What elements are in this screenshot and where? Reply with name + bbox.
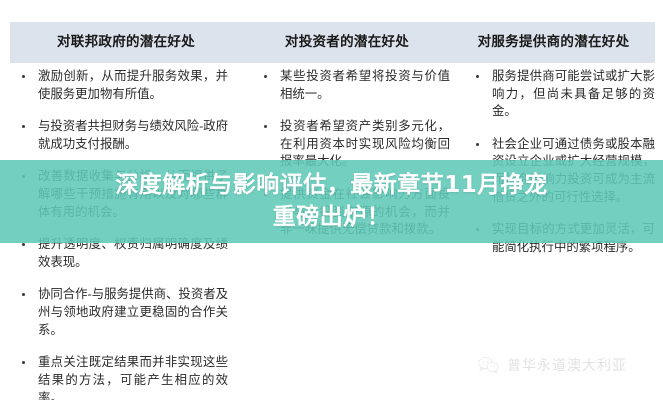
watermark-label: 普华永道澳大利亚 — [507, 355, 627, 375]
column-header-investors: 对投资者的潜在好处 — [242, 34, 452, 50]
slide-canvas: 对联邦政府的潜在好处 对投资者的潜在好处 对服务提供商的潜在好处 激励创新，从而… — [0, 0, 663, 400]
list-item: 协同合作-与服务提供商、投资者及州与领地政府建立更稳固的合作关系。 — [16, 286, 228, 339]
column-header-service-providers: 对服务提供商的潜在好处 — [452, 34, 655, 50]
list-item: 重点关注既定结果而并非实现这些结果的方法，可能产生相应的效率。 — [16, 354, 228, 400]
column-header-federal-government: 对联邦政府的潜在好处 — [10, 34, 242, 50]
table-header-row: 对联邦政府的潜在好处 对投资者的潜在好处 对服务提供商的潜在好处 — [10, 22, 655, 63]
watermark: 普华永道澳大利亚 — [478, 355, 627, 375]
list-item: 与投资者共担财务与绩效风险-政府就成功支付报酬。 — [16, 118, 228, 153]
overlay-headline-line-2: 重磅出炉！ — [273, 202, 391, 234]
list-item: 服务提供商可能尝试或扩大影响力，但尚未具备足够的资金。 — [470, 68, 655, 121]
list-item: 激励创新，从而提升服务效果，并使服务更加物有所值。 — [16, 68, 228, 103]
wechat-icon — [478, 356, 499, 374]
overlay-banner: 深度解析与影响评估，最新章节11月挣宠 重磅出炉！ — [0, 160, 663, 243]
overlay-headline-line-1: 深度解析与影响评估，最新章节11月挣宠 — [115, 170, 548, 202]
list-item: 某些投资者希望将投资与价值相统一。 — [258, 68, 450, 103]
